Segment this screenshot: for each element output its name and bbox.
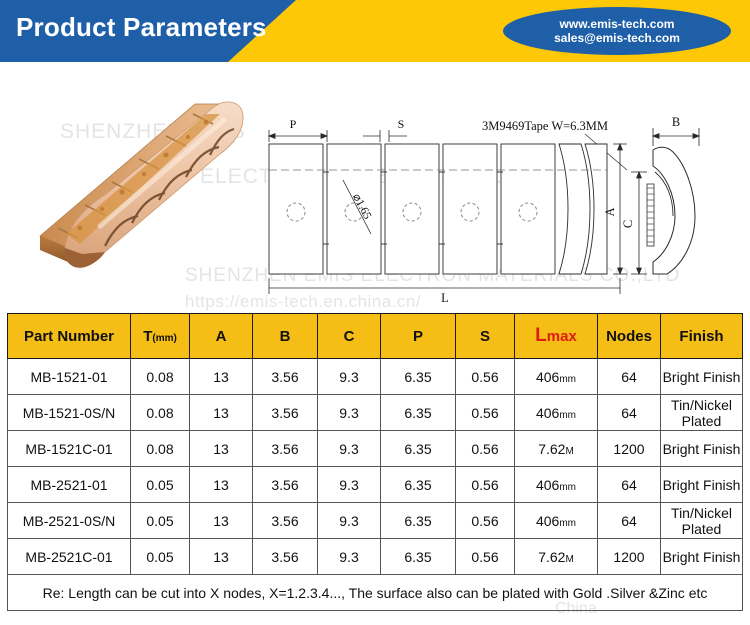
cell-c: 9.3 bbox=[318, 467, 381, 503]
cell-c: 9.3 bbox=[318, 503, 381, 539]
cell-s: 0.56 bbox=[456, 503, 515, 539]
product-photo bbox=[10, 76, 255, 306]
table-footnote-row: Re: Length can be cut into X nodes, X=1.… bbox=[8, 575, 743, 611]
col-header-p: P bbox=[381, 314, 456, 359]
cell-c: 9.3 bbox=[318, 395, 381, 431]
cell-nodes: 64 bbox=[598, 395, 661, 431]
cell-finish: Bright Finish bbox=[661, 467, 743, 503]
cell-finish: Bright Finish bbox=[661, 431, 743, 467]
cell-part-number: MB-1521C-01 bbox=[8, 431, 131, 467]
col-header-lmax: Lmax bbox=[515, 314, 598, 359]
cell-s: 0.56 bbox=[456, 431, 515, 467]
cell-part-number: MB-1521-01 bbox=[8, 359, 131, 395]
cell-nodes: 64 bbox=[598, 503, 661, 539]
col-header-part-number: Part Number bbox=[8, 314, 131, 359]
table-row: MB-2521-0S/N 0.05 13 3.56 9.3 6.35 0.56 … bbox=[8, 503, 743, 539]
cell-p: 6.35 bbox=[381, 395, 456, 431]
col-header-thickness: T(mm) bbox=[131, 314, 190, 359]
cell-lmax: 406mm bbox=[515, 395, 598, 431]
cell-lmax: 7.62M bbox=[515, 539, 598, 575]
cell-finish: Tin/Nickel Plated bbox=[661, 503, 743, 539]
cell-c: 9.3 bbox=[318, 539, 381, 575]
banner-underline bbox=[0, 62, 750, 66]
dim-label-c: C bbox=[621, 220, 635, 228]
cell-nodes: 64 bbox=[598, 359, 661, 395]
cell-s: 0.56 bbox=[456, 539, 515, 575]
cell-b: 3.56 bbox=[253, 395, 318, 431]
cell-part-number: MB-1521-0S/N bbox=[8, 395, 131, 431]
table-row: MB-1521-01 0.08 13 3.56 9.3 6.35 0.56 40… bbox=[8, 359, 743, 395]
cell-nodes: 1200 bbox=[598, 539, 661, 575]
cell-thickness: 0.08 bbox=[131, 359, 190, 395]
cell-s: 0.56 bbox=[456, 359, 515, 395]
dim-label-p: P bbox=[290, 117, 297, 131]
cell-a: 13 bbox=[190, 395, 253, 431]
cell-b: 3.56 bbox=[253, 359, 318, 395]
cell-part-number: MB-2521-01 bbox=[8, 467, 131, 503]
spec-table-container: Part Number T(mm) A B C P S Lmax Nodes F… bbox=[7, 313, 743, 611]
contact-website: www.emis-tech.com bbox=[560, 17, 675, 31]
cell-b: 3.56 bbox=[253, 539, 318, 575]
tape-note: 3M9469Tape W=6.3MM bbox=[482, 119, 608, 133]
cell-part-number: MB-2521-0S/N bbox=[8, 503, 131, 539]
table-row: MB-1521C-01 0.08 13 3.56 9.3 6.35 0.56 7… bbox=[8, 431, 743, 467]
cell-thickness: 0.05 bbox=[131, 503, 190, 539]
cell-a: 13 bbox=[190, 539, 253, 575]
dim-label-b: B bbox=[672, 115, 680, 129]
dim-label-a: A bbox=[603, 207, 617, 216]
cell-c: 9.3 bbox=[318, 431, 381, 467]
col-header-s: S bbox=[456, 314, 515, 359]
table-row: MB-2521-01 0.05 13 3.56 9.3 6.35 0.56 40… bbox=[8, 467, 743, 503]
col-header-b: B bbox=[253, 314, 318, 359]
cell-thickness: 0.05 bbox=[131, 539, 190, 575]
contact-badge: www.emis-tech.com sales@emis-tech.com bbox=[503, 7, 731, 55]
cell-lmax: 406mm bbox=[515, 503, 598, 539]
cell-nodes: 64 bbox=[598, 467, 661, 503]
cell-thickness: 0.08 bbox=[131, 431, 190, 467]
cell-p: 6.35 bbox=[381, 503, 456, 539]
table-header-row: Part Number T(mm) A B C P S Lmax Nodes F… bbox=[8, 314, 743, 359]
cell-a: 13 bbox=[190, 359, 253, 395]
cell-s: 0.56 bbox=[456, 395, 515, 431]
cell-lmax: 7.62M bbox=[515, 431, 598, 467]
page-title: Product Parameters bbox=[16, 12, 267, 43]
dim-label-l: L bbox=[441, 291, 449, 305]
cell-a: 13 bbox=[190, 467, 253, 503]
cell-p: 6.35 bbox=[381, 467, 456, 503]
col-header-a: A bbox=[190, 314, 253, 359]
cell-thickness: 0.05 bbox=[131, 467, 190, 503]
col-header-finish: Finish bbox=[661, 314, 743, 359]
cell-a: 13 bbox=[190, 431, 253, 467]
cell-s: 0.56 bbox=[456, 467, 515, 503]
cell-nodes: 1200 bbox=[598, 431, 661, 467]
dim-label-s: S bbox=[398, 117, 405, 131]
table-row: MB-1521-0S/N 0.08 13 3.56 9.3 6.35 0.56 … bbox=[8, 395, 743, 431]
cell-part-number: MB-2521C-01 bbox=[8, 539, 131, 575]
cell-p: 6.35 bbox=[381, 431, 456, 467]
cell-c: 9.3 bbox=[318, 359, 381, 395]
contact-email: sales@emis-tech.com bbox=[554, 31, 680, 45]
cell-a: 13 bbox=[190, 503, 253, 539]
cell-finish: Bright Finish bbox=[661, 539, 743, 575]
table-footnote: Re: Length can be cut into X nodes, X=1.… bbox=[8, 575, 743, 611]
cell-lmax: 406mm bbox=[515, 467, 598, 503]
cell-b: 3.56 bbox=[253, 503, 318, 539]
cell-p: 6.35 bbox=[381, 539, 456, 575]
col-header-c: C bbox=[318, 314, 381, 359]
cell-b: 3.56 bbox=[253, 431, 318, 467]
technical-drawing: P S 3M9469Tape W=6.3MM bbox=[255, 112, 745, 307]
table-body: MB-1521-01 0.08 13 3.56 9.3 6.35 0.56 40… bbox=[8, 359, 743, 611]
cell-finish: Bright Finish bbox=[661, 359, 743, 395]
page-header-banner: Product Parameters www.emis-tech.com sal… bbox=[0, 0, 750, 62]
table-row: MB-2521C-01 0.05 13 3.56 9.3 6.35 0.56 7… bbox=[8, 539, 743, 575]
product-parameters-table: Part Number T(mm) A B C P S Lmax Nodes F… bbox=[7, 313, 743, 611]
cell-thickness: 0.08 bbox=[131, 395, 190, 431]
cell-finish: Tin/Nickel Plated bbox=[661, 395, 743, 431]
cell-b: 3.56 bbox=[253, 467, 318, 503]
col-header-nodes: Nodes bbox=[598, 314, 661, 359]
cell-p: 6.35 bbox=[381, 359, 456, 395]
cell-lmax: 406mm bbox=[515, 359, 598, 395]
